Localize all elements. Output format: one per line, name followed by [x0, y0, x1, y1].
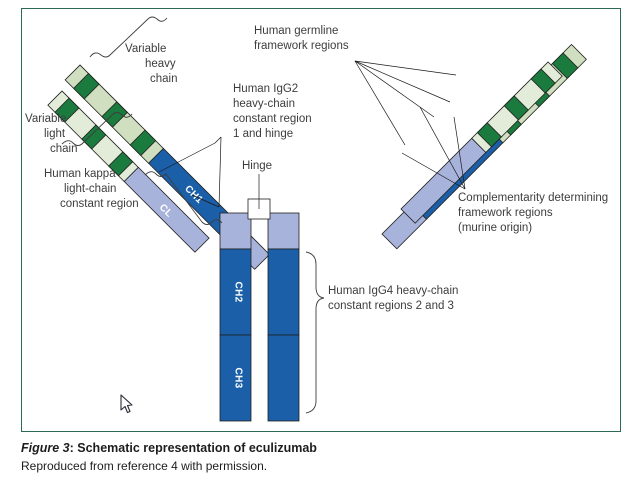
- caption-figure-number: Figure 3: [21, 441, 70, 455]
- label-variable-heavy-line-2: heavy: [145, 58, 176, 70]
- label-kappa-line-3: constant region: [60, 198, 139, 210]
- label-cdr-line-1: Complementarity determining: [458, 192, 608, 204]
- label-human-igg4-constant: Human IgG4 heavy-chain constant regions …: [328, 285, 458, 312]
- antibody-schematic-diagram: CH1 CL: [22, 9, 622, 433]
- label-igg4-line-1: Human IgG4 heavy-chain: [328, 285, 458, 297]
- label-germline-line-2: framework regions: [254, 40, 349, 52]
- figure-page: CH1 CL: [0, 0, 633, 485]
- label-igg2-line-1: Human IgG2: [233, 83, 298, 95]
- figure-caption: Figure 3: Schematic representation of ec…: [21, 440, 621, 474]
- caption-credit: Reproduced from reference 4 with permiss…: [21, 458, 621, 474]
- label-igg2-line-4: 1 and hinge: [233, 128, 293, 140]
- label-variable-heavy-chain: Variable heavy chain: [125, 43, 178, 85]
- label-variable-heavy-line-1: Variable: [125, 43, 166, 55]
- mouse-pointer-icon: [120, 394, 134, 414]
- segment-label-ch2: CH2: [233, 282, 244, 303]
- label-germline-line-1: Human germline: [254, 25, 338, 37]
- label-cdr-murine: Complementarity determining framework re…: [458, 192, 608, 234]
- left-stem-hinge-top: [220, 213, 251, 249]
- label-cdr-line-3: (murine origin): [458, 222, 532, 234]
- caption-title-line: Figure 3: Schematic representation of ec…: [21, 440, 621, 457]
- label-variable-light-line-1: Variable: [25, 113, 66, 125]
- label-cdr-line-2: framework regions: [458, 207, 553, 219]
- label-hinge: Hinge: [242, 160, 272, 172]
- right-stem-ch3-segment: [268, 335, 299, 421]
- label-variable-light-line-3: chain: [50, 143, 78, 155]
- label-igg2-line-2: heavy-chain: [233, 98, 295, 110]
- germline-leader-lines: [355, 61, 456, 145]
- segment-label-ch3: CH3: [233, 368, 244, 389]
- label-kappa-line-1: Human kappa: [44, 168, 116, 180]
- label-igg2-line-3: constant region: [233, 113, 312, 125]
- caption-title: Schematic representation of eculizumab: [77, 441, 317, 455]
- right-stem-ch2-segment: [268, 249, 299, 335]
- label-human-igg2-ch1-hinge: Human IgG2 heavy-chain constant region 1…: [233, 83, 312, 140]
- figure-frame: CH1 CL: [21, 8, 621, 432]
- right-stem-hinge-top: [268, 213, 299, 249]
- label-kappa-line-2: light-chain: [64, 183, 116, 195]
- label-variable-light-line-2: light: [44, 128, 66, 140]
- label-human-germline-framework: Human germline framework regions: [254, 25, 349, 52]
- brace-igg4-constant: [306, 252, 324, 413]
- label-igg4-line-2: constant regions 2 and 3: [328, 300, 454, 312]
- label-variable-heavy-line-3: chain: [150, 73, 178, 85]
